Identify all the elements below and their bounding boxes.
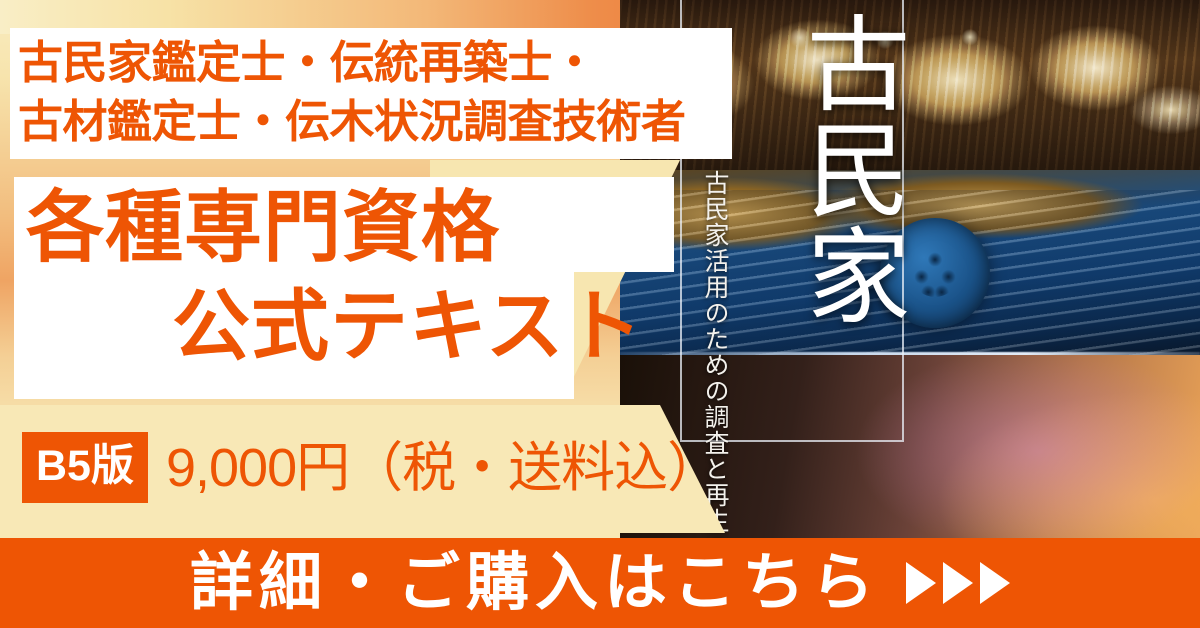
cta-label: 詳細・ご購入はこちら (190, 552, 880, 615)
book-cover-title: 古民家 (760, 10, 910, 328)
triangle-right-icon (943, 562, 973, 604)
headline-line-2: 公式テキスト (172, 287, 644, 365)
qualification-list-text: 古民家鑑定士・伝統再築士・ 古材鑑定士・伝木状況調査技術者 (18, 34, 724, 151)
carving-bead-row (660, 22, 1160, 62)
size-badge: B5版 (22, 432, 148, 503)
qualification-line-1: 古民家鑑定士・伝統再築士・ (18, 37, 597, 88)
triangle-right-icon (980, 562, 1010, 604)
price-row: B5版 9,000円（税・送料込） (22, 432, 720, 503)
cta-arrows (906, 562, 1010, 604)
promo-banner: 古民家 伝統構法 古民家活用のための調査と再生の 古民家鑑定士・伝統再築士・ 古… (0, 0, 1200, 628)
qualification-line-2: 古材鑑定士・伝木状況調査技術者 (18, 93, 724, 152)
price-amount: 9,000円（税・送料込） (166, 441, 720, 495)
headline-line-1: 各種専門資格 (26, 188, 500, 266)
cta-button-bar[interactable]: 詳細・ご購入はこちら (0, 538, 1200, 628)
triangle-right-icon (906, 562, 936, 604)
